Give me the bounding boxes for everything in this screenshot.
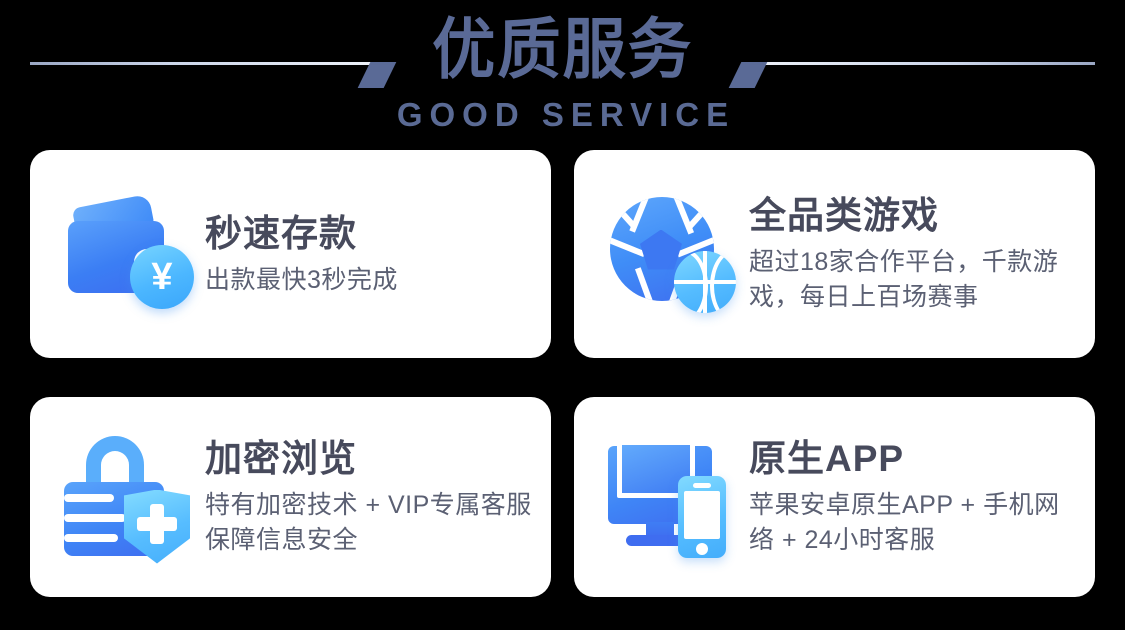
soccer-seam [610,199,637,228]
shield-plus-icon [137,517,177,531]
card-subtitle: 苹果安卓原生APP + 手机网络 + 24小时客服 [749,488,1079,558]
yen-symbol: ¥ [130,245,194,309]
page-subtitle: GOOD SERVICE [0,95,1125,135]
card-title: 加密浏览 [205,436,535,482]
service-card-native-app[interactable]: 原生APP 苹果安卓原生APP + 手机网络 + 24小时客服 [574,397,1095,597]
card-title: 秒速存款 [205,211,535,257]
soccer-seam [610,234,646,256]
phone-home-button [696,543,708,555]
card-subtitle: 特有加密技术 + VIP专属客服保障信息安全 [205,488,535,558]
service-card-text: 秒速存款 出款最快3秒完成 [195,211,551,298]
soccer-ball-icon [604,187,739,322]
lock-slot [64,534,118,542]
card-title: 全品类游戏 [749,193,1079,239]
basketball-icon [674,251,736,313]
service-card-grid: ¥ 秒速存款 出款最快3秒完成 [30,150,1095,597]
service-card-encryption[interactable]: 加密浏览 特有加密技术 + VIP专属客服保障信息安全 [30,397,551,597]
page-header: 优质服务 GOOD SERVICE [0,0,1125,140]
soccer-seam [635,267,655,301]
wallet-icon: ¥ [60,187,195,322]
service-card-deposit[interactable]: ¥ 秒速存款 出款最快3秒完成 [30,150,551,358]
basketball-seam [710,251,736,313]
card-subtitle: 出款最快3秒完成 [205,263,535,298]
yen-coin-icon: ¥ [130,245,194,309]
soccer-seam [687,199,714,228]
phone-screen [684,491,720,539]
card-title: 原生APP [749,436,1079,482]
monitor-phone-icon [604,430,739,565]
page-title: 优质服务 [23,6,1103,92]
service-card-text: 全品类游戏 超过18家合作平台，千款游戏，每日上百场赛事 [739,193,1095,315]
service-card-games[interactable]: 全品类游戏 超过18家合作平台，千款游戏，每日上百场赛事 [574,150,1095,358]
lock-slot [64,494,114,502]
lock-shield-icon [60,430,195,565]
lock-slot [64,514,126,522]
card-subtitle: 超过18家合作平台，千款游戏，每日上百场赛事 [749,245,1079,315]
phone-speaker [693,483,711,488]
service-card-text: 原生APP 苹果安卓原生APP + 手机网络 + 24小时客服 [739,436,1095,558]
service-card-text: 加密浏览 特有加密技术 + VIP专属客服保障信息安全 [195,436,551,558]
